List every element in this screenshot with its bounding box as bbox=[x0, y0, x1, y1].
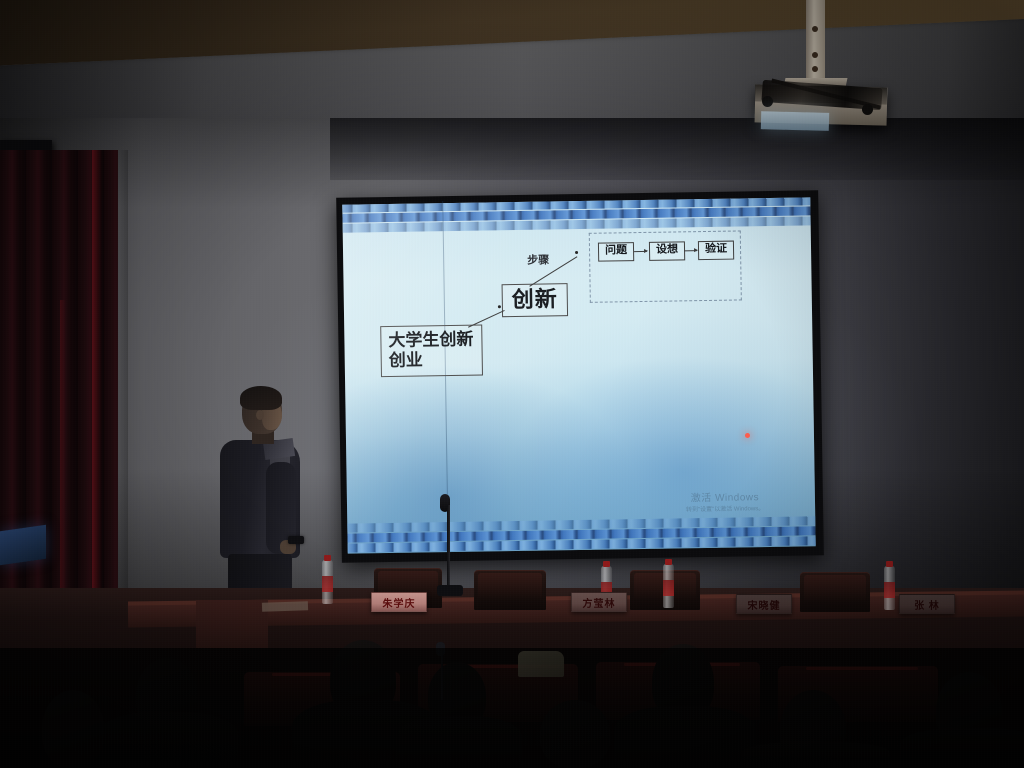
slide-connector-endpoint bbox=[498, 305, 501, 308]
presenter-hair bbox=[240, 386, 282, 410]
slide-flow-box-verification: 验证 bbox=[698, 241, 734, 260]
projector-adjust-knob bbox=[762, 96, 773, 107]
water-bottle bbox=[663, 564, 674, 608]
name-placard: 张 林 bbox=[899, 594, 955, 614]
laser-pointer-dot bbox=[745, 433, 750, 438]
conference-microphone-stem bbox=[447, 505, 450, 587]
windows-activation-watermark: 激活 Windows 转到"设置"以激活 Windows。 bbox=[665, 488, 785, 516]
presentation-clicker bbox=[288, 536, 304, 544]
slide-content: 步骤 问题 设想 验证 创新 大学生创新创业 激活 Windows 转到"设置"… bbox=[342, 197, 815, 553]
slide-flow-arrow-2 bbox=[684, 250, 697, 251]
watermark-line-2: 转到"设置"以激活 Windows。 bbox=[665, 505, 785, 516]
projector-pole-screw bbox=[812, 52, 818, 58]
slide-flow-arrow-1 bbox=[634, 251, 647, 252]
projector-pole-screw bbox=[812, 26, 818, 32]
audience-shading bbox=[0, 648, 1024, 768]
slide-main-box-innovation: 创新 bbox=[502, 283, 569, 317]
name-placard: 朱学庆 bbox=[371, 592, 427, 612]
water-bottle bbox=[884, 566, 895, 610]
slide-flow-box-problem: 问题 bbox=[598, 242, 634, 261]
projector-pole-screw bbox=[812, 66, 818, 72]
name-placard: 宋晓健 bbox=[736, 594, 792, 614]
slide-connector-topic-to-main bbox=[468, 310, 505, 328]
head-table-chair bbox=[800, 572, 870, 612]
projector-mount-pole bbox=[806, 0, 825, 86]
watermark-line-1: 激活 Windows bbox=[665, 488, 785, 505]
slide-flow-box-hypothesis: 设想 bbox=[649, 241, 685, 260]
presenter bbox=[214, 388, 306, 620]
slide-step-label: 步骤 bbox=[527, 251, 549, 267]
slide-topic-box: 大学生创新创业 bbox=[380, 325, 483, 378]
curtain-highlight-secondary bbox=[60, 300, 66, 590]
slide-connector-endpoint bbox=[575, 251, 578, 254]
curtain-highlight bbox=[92, 150, 102, 590]
projector-adjust-knob bbox=[862, 104, 873, 115]
projector-lens-glow bbox=[761, 111, 829, 131]
name-placard: 方莹林 bbox=[571, 592, 627, 612]
laptop-screen-glow bbox=[0, 525, 46, 565]
papers-on-table bbox=[262, 601, 308, 612]
lecture-hall-scene: 步骤 问题 设想 验证 创新 大学生创新创业 激活 Windows 转到"设置"… bbox=[0, 0, 1024, 768]
head-table-chair bbox=[474, 570, 546, 610]
water-bottle bbox=[322, 560, 333, 604]
conference-microphone-base bbox=[437, 585, 463, 596]
presenter-ear bbox=[256, 410, 264, 420]
